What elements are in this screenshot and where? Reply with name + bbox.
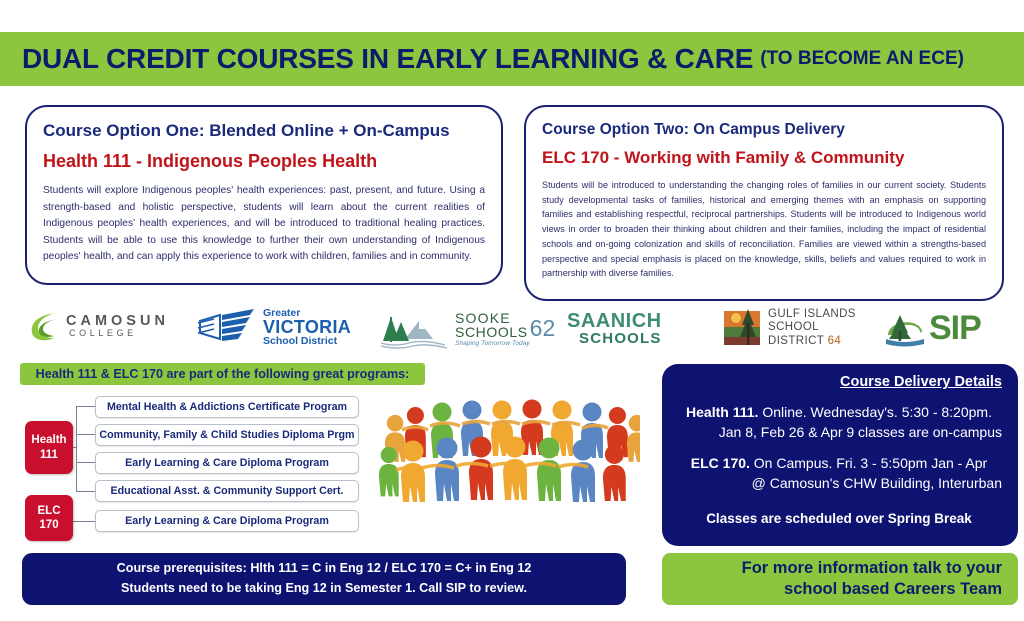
course-option-two-heading: Course Option Two: On Campus Delivery — [542, 121, 986, 139]
saanich-schools-logo: SAANICH SCHOOLS — [567, 311, 662, 346]
delivery-elc-line1: On Campus. Fri. 3 - 5:50pm Jan - Apr — [754, 455, 987, 471]
poster-root: DUAL CREDIT COURSES IN EARLY LEARNING & … — [0, 0, 1024, 621]
course-option-one-card: Course Option One: Blended Online + On-C… — [25, 105, 503, 285]
program-box: Mental Health & Addictions Certificate P… — [95, 396, 359, 418]
delivery-spacer — [676, 443, 1002, 453]
sooke-logo-line1: SOOKE — [455, 311, 528, 325]
badge-health-line2: 111 — [40, 448, 58, 462]
program-connector-1 — [76, 434, 95, 435]
program-box: Community, Family & Child Studies Diplom… — [95, 424, 359, 446]
gulf-islands-tree-sun-icon — [722, 307, 762, 349]
sip-logo-text: SIP — [929, 309, 981, 348]
sip-tree-badge-icon — [884, 311, 926, 347]
gulf-logo-line3: DISTRICT — [768, 335, 824, 347]
program-connector-vertical — [76, 406, 77, 492]
delivery-footer-note: Classes are scheduled over Spring Break — [676, 511, 1002, 526]
camosun-logo-line2: COLLEGE — [69, 329, 169, 338]
camosun-logo-line1: CAMOSUN — [66, 314, 169, 329]
page-title: DUAL CREDIT COURSES IN EARLY LEARNING & … — [22, 43, 753, 75]
more-info-line1: For more information talk to your — [742, 558, 1002, 579]
program-connector-2 — [76, 462, 95, 463]
camosun-college-logo: CAMOSUN COLLEGE — [28, 309, 169, 343]
gulf-logo-line1: GULF ISLANDS — [768, 308, 856, 321]
program-box: Educational Asst. & Community Support Ce… — [95, 480, 359, 502]
delivery-health-line1: Online. Wednesday's. 5:30 - 8:20pm. — [762, 404, 992, 420]
badge-elc-line2: 170 — [39, 518, 58, 532]
badge-health-111: Health 111 — [25, 421, 73, 474]
program-connector-elc — [73, 521, 95, 522]
partner-logo-strip: CAMOSUN COLLEGE Greater VICTORIA School … — [0, 303, 1024, 361]
delivery-title: Course Delivery Details — [676, 374, 1002, 390]
prerequisites-banner: Course prerequisites: Hlth 111 = C in En… — [22, 553, 626, 605]
delivery-elc-row: ELC 170. On Campus. Fri. 3 - 5:50pm Jan … — [676, 453, 1002, 473]
program-connector-3 — [76, 491, 95, 492]
delivery-health-line2: Jan 8, Feb 26 & Apr 9 classes are on-cam… — [676, 422, 1002, 442]
course-option-one-description: Students will explore Indigenous peoples… — [43, 183, 485, 266]
prerequisites-line2: Students need to be taking Eng 12 in Sem… — [121, 579, 527, 599]
page-subtitle: (TO BECOME AN ECE) — [760, 48, 964, 70]
program-box: Early Learning & Care Diploma Program — [95, 452, 359, 474]
badge-health-line1: Health — [31, 433, 66, 447]
gvsd-logo-line2: VICTORIA — [263, 318, 351, 336]
sooke-logo-line2: SCHOOLS — [455, 325, 528, 339]
saanich-logo-line2: SCHOOLS — [567, 331, 662, 346]
sooke-logo-number: 62 — [530, 319, 556, 339]
sip-logo: SIP — [884, 309, 981, 348]
camosun-crescent-icon — [28, 309, 62, 343]
course-delivery-details-panel: Course Delivery Details Health 111. Onli… — [662, 364, 1018, 546]
badge-elc-170: ELC 170 — [25, 495, 73, 541]
course-option-two-card: Course Option Two: On Campus Delivery EL… — [524, 105, 1004, 301]
prerequisites-line1: Course prerequisites: Hlth 111 = C in En… — [117, 559, 532, 579]
gvsd-logo-line3: School District — [263, 336, 351, 347]
gvsd-book-icon — [196, 307, 258, 347]
gulf-islands-school-district-64-logo: GULF ISLANDS SCHOOL DISTRICT 64 — [722, 307, 856, 349]
course-option-one-heading: Course Option One: Blended Online + On-C… — [43, 121, 485, 141]
delivery-health-row: Health 111. Online. Wednesday's. 5:30 - … — [676, 402, 1002, 422]
gulf-logo-number: 64 — [828, 335, 842, 347]
more-info-line2: school based Careers Team — [784, 579, 1002, 600]
title-banner: DUAL CREDIT COURSES IN EARLY LEARNING & … — [0, 32, 1024, 86]
program-connector-0 — [76, 406, 95, 407]
badge-elc-line1: ELC — [38, 504, 61, 518]
delivery-health-label: Health 111. — [686, 404, 758, 420]
sooke-logo-tagline: Shaping Tomorrow Today — [455, 341, 555, 348]
delivery-elc-label: ELC 170. — [691, 455, 750, 471]
people-circle-illustration — [378, 388, 640, 538]
sooke-mountain-tree-icon — [375, 309, 451, 349]
more-information-banner: For more information talk to your school… — [662, 553, 1018, 605]
course-option-two-title: ELC 170 - Working with Family & Communit… — [542, 148, 986, 168]
program-box: Early Learning & Care Diploma Program — [95, 510, 359, 532]
saanich-logo-line1: SAANICH — [567, 311, 662, 331]
sooke-schools-62-logo: SOOKE SCHOOLS 62 Shaping Tomorrow Today — [375, 309, 555, 349]
program-connector-hub — [73, 447, 77, 448]
course-option-one-title: Health 111 - Indigenous Peoples Health — [43, 151, 485, 172]
gulf-logo-line2: SCHOOL — [768, 321, 856, 334]
course-option-two-description: Students will be introduced to understan… — [542, 178, 986, 281]
greater-victoria-school-district-logo: Greater VICTORIA School District — [196, 307, 351, 347]
delivery-elc-line2: @ Camosun's CHW Building, Interurban — [676, 473, 1002, 493]
programs-banner: Health 111 & ELC 170 are part of the fol… — [20, 363, 425, 385]
